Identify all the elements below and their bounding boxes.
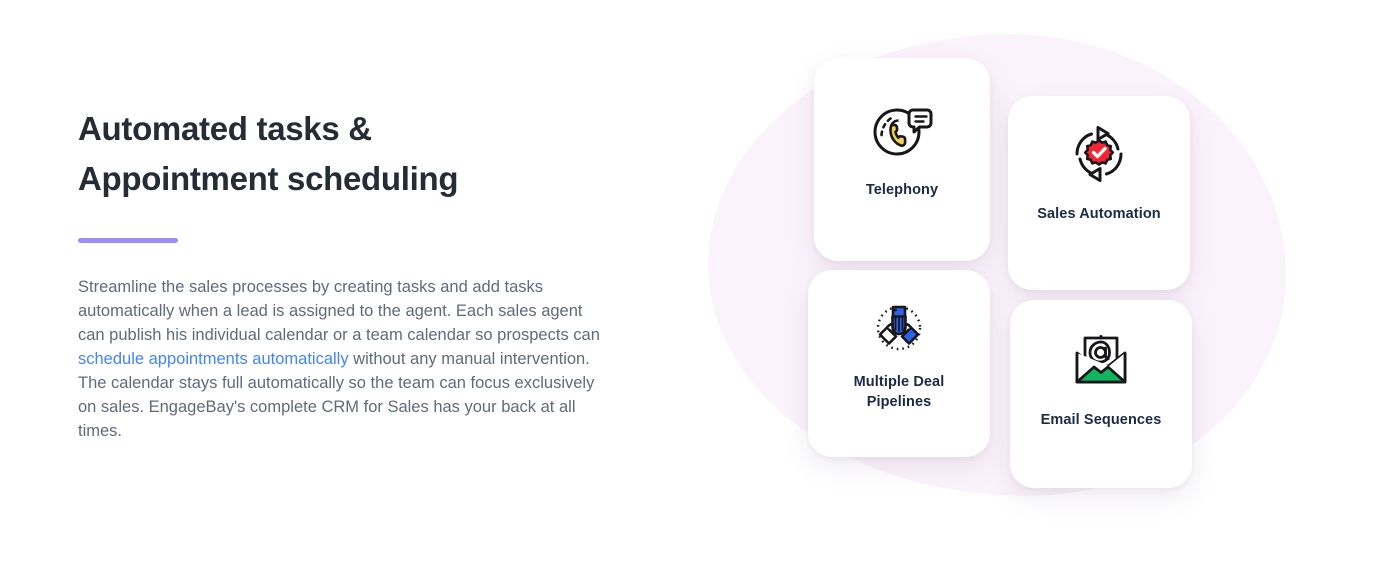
feature-cards-visual: Telephony Sales Automation [690, 0, 1330, 581]
page-title: Automated tasks & Appointment scheduling [78, 104, 618, 204]
feature-card-label: Multiple Deal Pipelines [854, 372, 945, 412]
text-column: Automated tasks & Appointment scheduling… [78, 104, 618, 443]
feature-card-sales-automation[interactable]: Sales Automation [1008, 96, 1190, 290]
three-hands-together-icon [868, 298, 930, 356]
feature-card-multiple-deal-pipelines[interactable]: Multiple Deal Pipelines [808, 270, 990, 457]
body-text-before-link: Streamline the sales processes by creati… [78, 278, 600, 344]
feature-section: Automated tasks & Appointment scheduling… [0, 0, 1386, 581]
page-title-line-1: Automated tasks & [78, 104, 618, 154]
background-blob [708, 34, 1286, 496]
page-title-line-2: Appointment scheduling [78, 154, 618, 204]
feature-card-label: Telephony [866, 180, 938, 200]
open-envelope-at-icon [1071, 330, 1131, 388]
body-paragraph: Streamline the sales processes by creati… [78, 275, 606, 443]
feature-card-telephony[interactable]: Telephony [814, 58, 990, 261]
feature-card-label: Sales Automation [1037, 204, 1161, 224]
feature-card-label-line-1: Multiple Deal [854, 374, 945, 390]
feature-card-label-line-2: Pipelines [867, 394, 932, 410]
schedule-appointments-link[interactable]: schedule appointments automatically [78, 350, 349, 368]
feature-card-label: Email Sequences [1041, 410, 1162, 430]
phone-chat-icon [871, 102, 933, 158]
refresh-badge-check-icon [1068, 124, 1130, 184]
title-underline-divider [78, 238, 178, 243]
feature-card-email-sequences[interactable]: Email Sequences [1010, 300, 1192, 488]
